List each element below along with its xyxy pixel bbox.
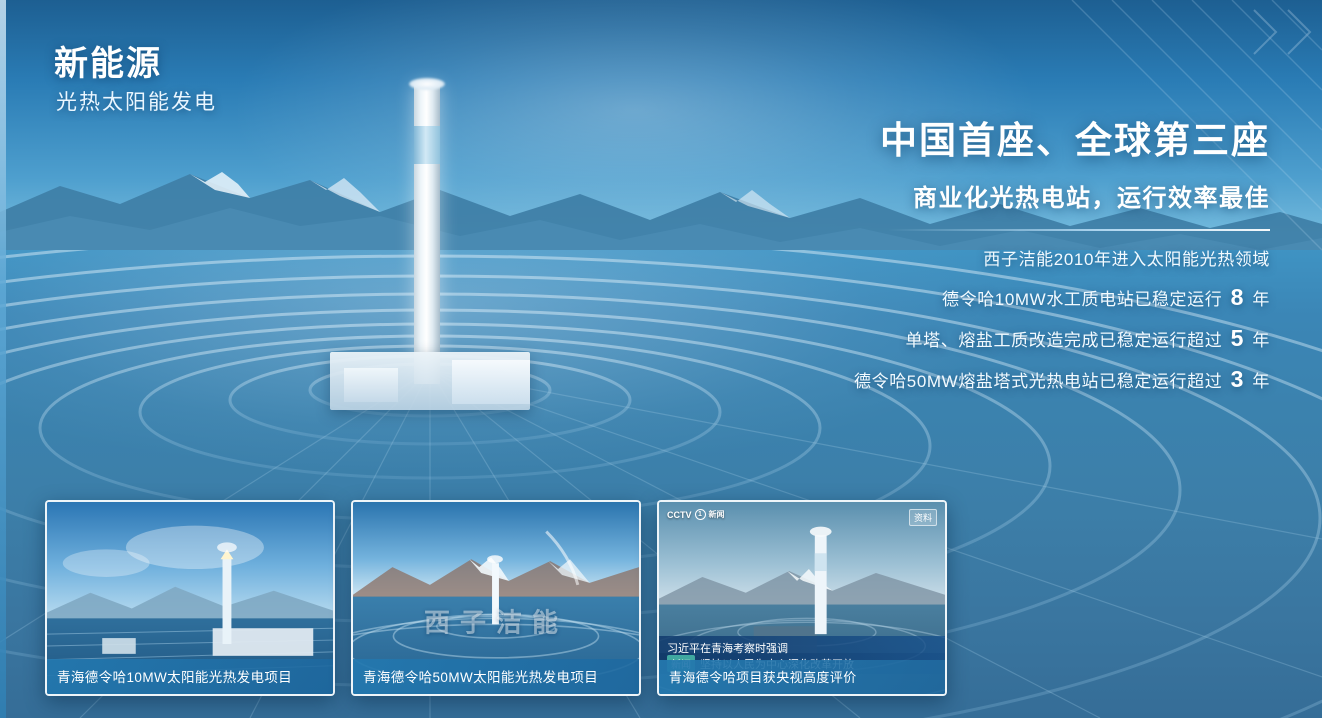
fact-item: 单塔、熔盐工质改造完成已稳定运行超过 5 年	[570, 325, 1270, 352]
power-plant-building-c	[344, 368, 398, 402]
thumbnail-card[interactable]: 西子洁能 青海德令哈50MW太阳能光热发电项目	[351, 500, 641, 696]
cctv-logo: CCTV 1 新闻	[667, 509, 725, 520]
headline-secondary: 商业化光热电站，运行效率最佳	[570, 178, 1270, 213]
power-plant-building-b	[452, 360, 530, 404]
slide-root: 新能源 光热太阳能发电 中国首座、全球第三座 商业化光热电站，运行效率最佳 西子…	[0, 0, 1322, 718]
cctv-channel-label: 新闻	[709, 509, 725, 520]
fact-number: 5	[1228, 325, 1247, 351]
page-title: 新能源	[54, 36, 162, 85]
thumbnail-card[interactable]: 青海德令哈10MW太阳能光热发电项目	[45, 500, 335, 696]
headline-primary: 中国首座、全球第三座	[570, 110, 1270, 164]
solar-tower-band	[414, 126, 440, 164]
thumbnail-caption: 青海德令哈50MW太阳能光热发电项目	[353, 659, 639, 694]
source-badge: 资料	[909, 509, 937, 526]
page-subtitle: 光热太阳能发电	[56, 86, 217, 116]
fact-text: 西子洁能2010年进入太阳能光热领域	[983, 250, 1270, 269]
fact-text: 德令哈50MW熔盐塔式光热电站已稳定运行超过	[854, 372, 1222, 391]
cctv-text: CCTV	[667, 510, 692, 520]
solar-receiver-glow	[409, 78, 445, 90]
fact-item: 德令哈50MW熔盐塔式光热电站已稳定运行超过 3 年	[570, 366, 1270, 393]
fact-unit: 年	[1252, 331, 1270, 350]
thumbnail-card[interactable]: CCTV 1 新闻 资料 习近平在青海考察时强调 新闻坚持以人民为中心深化改革开…	[657, 500, 947, 696]
fact-text: 单塔、熔盐工质改造完成已稳定运行超过	[906, 331, 1223, 350]
thumbnail-watermark: 西子洁能	[424, 603, 568, 640]
fact-number: 3	[1228, 366, 1247, 392]
fact-list: 西子洁能2010年进入太阳能光热领域 德令哈10MW水工质电站已稳定运行 8 年…	[570, 245, 1270, 393]
fact-unit: 年	[1252, 290, 1270, 309]
thumbnail-gallery: 青海德令哈10MW太阳能光热发电项目	[45, 500, 947, 696]
fact-item: 西子洁能2010年进入太阳能光热领域	[570, 245, 1270, 270]
thumbnail-caption: 青海德令哈10MW太阳能光热发电项目	[47, 659, 333, 694]
cctv-channel-number: 1	[695, 509, 706, 520]
left-edge-accent-bar	[0, 0, 6, 718]
fact-item: 德令哈10MW水工质电站已稳定运行 8 年	[570, 284, 1270, 311]
thumbnail-caption: 青海德令哈项目获央视高度评价	[659, 660, 945, 694]
fact-unit: 年	[1252, 372, 1270, 391]
headline-divider	[888, 229, 1270, 231]
fact-number: 8	[1228, 284, 1247, 310]
fact-text: 德令哈10MW水工质电站已稳定运行	[942, 290, 1222, 309]
headline-block: 中国首座、全球第三座 商业化光热电站，运行效率最佳 西子洁能2010年进入太阳能…	[570, 110, 1270, 407]
